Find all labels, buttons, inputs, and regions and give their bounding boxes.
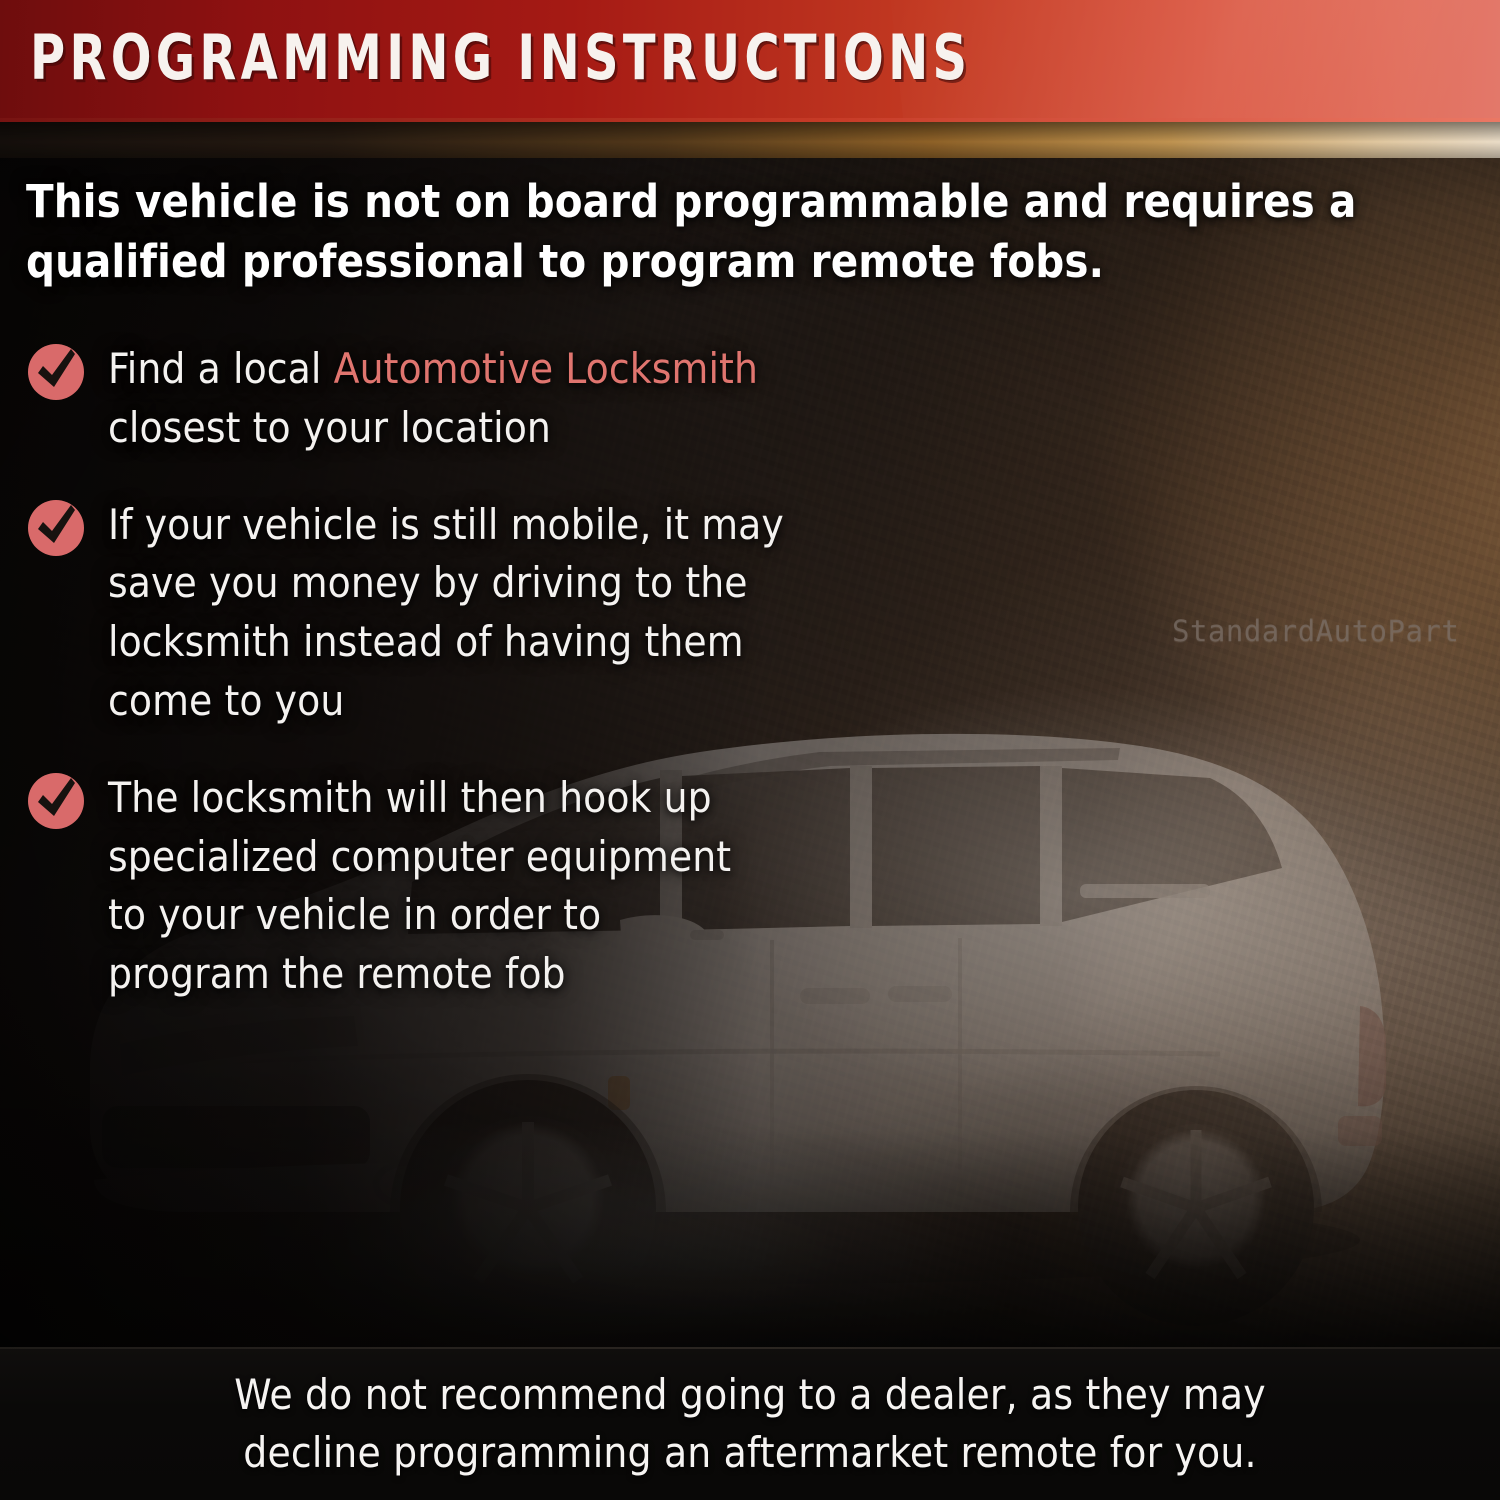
- header-gold-strip: [0, 122, 1500, 158]
- intro-line-2: qualified professional to program remote…: [26, 232, 1366, 292]
- bullet-1-prefix: Find a local: [108, 344, 334, 393]
- brand-watermark: StandardAutoPart: [1172, 614, 1459, 648]
- check-circle-icon: [26, 342, 86, 402]
- list-item: Find a local Automotive Locksmith closes…: [26, 340, 926, 458]
- header-banner: PROGRAMMING INSTRUCTIONS: [0, 0, 1500, 122]
- bullet-2-line-2: save you money by driving to the: [108, 558, 748, 607]
- bullet-3-line-3: to your vehicle in order to: [108, 890, 601, 939]
- check-circle-icon: [26, 771, 86, 831]
- bullet-1-line-2: closest to your location: [108, 403, 551, 452]
- intro-statement: This vehicle is not on board programmabl…: [26, 172, 1366, 292]
- footer-banner: We do not recommend going to a dealer, a…: [0, 1347, 1500, 1500]
- bullet-3-line-2: specialized computer equipment: [108, 832, 731, 881]
- list-item-text: The locksmith will then hook up speciali…: [108, 769, 731, 1004]
- bullet-2-line-4: come to you: [108, 676, 344, 725]
- list-item-text: If your vehicle is still mobile, it may …: [108, 496, 784, 731]
- footer-line-1: We do not recommend going to a dealer, a…: [234, 1366, 1266, 1424]
- list-item-text: Find a local Automotive Locksmith closes…: [108, 340, 758, 458]
- bullet-2-line-3: locksmith instead of having them: [108, 617, 744, 666]
- bullet-2-line-1: If your vehicle is still mobile, it may: [108, 500, 784, 549]
- bullet-3-line-4: program the remote fob: [108, 949, 566, 998]
- list-item: If your vehicle is still mobile, it may …: [26, 496, 926, 731]
- intro-line-1: This vehicle is not on board programmabl…: [26, 172, 1366, 232]
- check-circle-icon: [26, 498, 86, 558]
- automotive-locksmith-highlight: Automotive Locksmith: [334, 344, 758, 393]
- footer-line-2: decline programming an aftermarket remot…: [234, 1424, 1266, 1482]
- instruction-list: Find a local Automotive Locksmith closes…: [26, 340, 926, 1042]
- header-sheen: [888, 0, 1500, 122]
- bullet-3-line-1: The locksmith will then hook up: [108, 773, 712, 822]
- list-item: The locksmith will then hook up speciali…: [26, 769, 926, 1004]
- footer-note: We do not recommend going to a dealer, a…: [234, 1366, 1266, 1482]
- page-title: PROGRAMMING INSTRUCTIONS: [30, 21, 971, 94]
- programming-instructions-card: PROGRAMMING INSTRUCTIONS This vehicle is…: [0, 0, 1500, 1500]
